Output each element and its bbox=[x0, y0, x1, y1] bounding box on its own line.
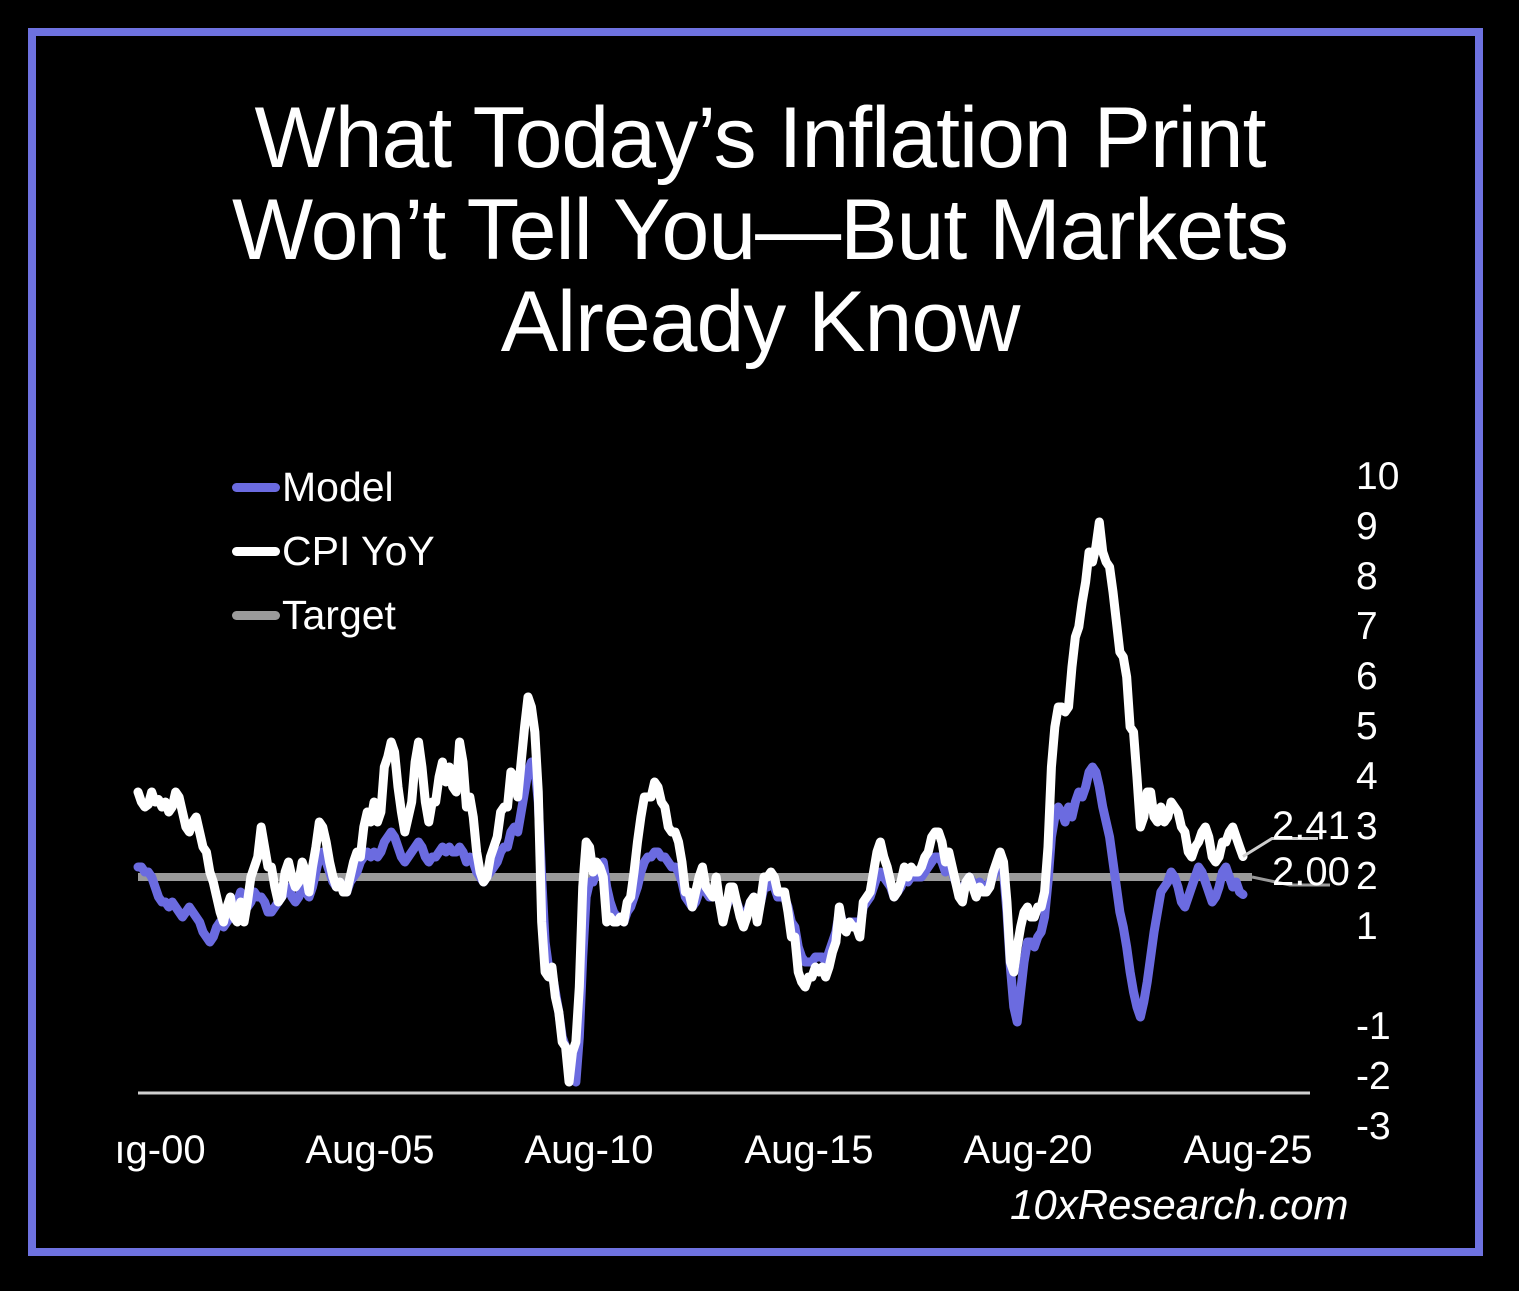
watermark: 10xResearch.com bbox=[1010, 1184, 1348, 1226]
x-tick-aug-20: Aug-20 bbox=[918, 1130, 1138, 1170]
chart-legend: Model CPI YoY Target bbox=[232, 455, 572, 647]
y-tick-6: 6 bbox=[1356, 657, 1378, 696]
y-tick-4: 4 bbox=[1356, 757, 1378, 796]
legend-swatch-cpi-yoy bbox=[232, 547, 280, 556]
x-tick-aug-10: Aug-10 bbox=[479, 1130, 699, 1170]
y-tick-neg2: -2 bbox=[1356, 1057, 1391, 1096]
y-tick-8: 8 bbox=[1356, 557, 1378, 596]
infographic-root: What Today’s Inflation Print Won’t Tell … bbox=[0, 0, 1519, 1291]
legend-label-model: Model bbox=[282, 467, 394, 508]
x-tick--g-00: ıg-00 bbox=[50, 1130, 270, 1170]
x-tick-aug-25: Aug-25 bbox=[1138, 1130, 1358, 1170]
y-tick-1: 1 bbox=[1356, 907, 1378, 946]
y-tick-neg1: -1 bbox=[1356, 1007, 1391, 1046]
y-tick-neg3: -3 bbox=[1356, 1107, 1391, 1146]
legend-item-model[interactable]: Model bbox=[232, 455, 572, 519]
legend-item-target[interactable]: Target bbox=[232, 583, 572, 647]
legend-label-cpi-yoy: CPI YoY bbox=[282, 531, 435, 572]
y-tick-10: 10 bbox=[1356, 457, 1399, 496]
y-tick-2: 2 bbox=[1356, 857, 1378, 896]
x-tick-aug-05: Aug-05 bbox=[260, 1130, 480, 1170]
legend-item-cpi-yoy[interactable]: CPI YoY bbox=[232, 519, 572, 583]
chart-container bbox=[0, 0, 1519, 1291]
y-tick-9: 9 bbox=[1356, 507, 1378, 546]
legend-swatch-model bbox=[232, 483, 280, 492]
target-end-value-label: 2.00 bbox=[1272, 852, 1350, 892]
series-model-line bbox=[138, 762, 1243, 1082]
y-tick-5: 5 bbox=[1356, 707, 1378, 746]
y-tick-7: 7 bbox=[1356, 607, 1378, 646]
legend-swatch-target bbox=[232, 611, 280, 620]
x-tick-aug-15: Aug-15 bbox=[699, 1130, 919, 1170]
cpi-end-value-label: 2.41 bbox=[1272, 806, 1350, 846]
inflation-line-chart bbox=[0, 0, 1519, 1291]
legend-label-target: Target bbox=[282, 595, 396, 636]
y-tick-3: 3 bbox=[1356, 807, 1378, 846]
